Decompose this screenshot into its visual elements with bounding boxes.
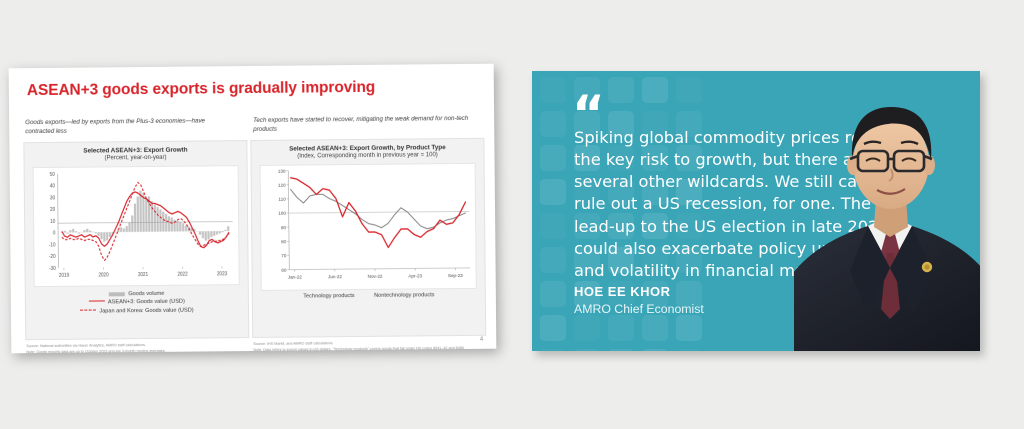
chart-left-legend: Goods volume ASEAN+3: Goods value (USD) … (26, 289, 248, 316)
left-panel-footnote: Source: National authorities via Haver A… (26, 342, 241, 353)
svg-text:30: 30 (50, 195, 55, 201)
legend-label-asean3: ASEAN+3: Goods value (USD) (108, 299, 185, 306)
svg-text:2023: 2023 (217, 271, 228, 277)
presentation-slide[interactable]: ASEAN+3 goods exports is gradually impro… (9, 64, 497, 354)
svg-text:10: 10 (50, 219, 55, 225)
svg-text:60: 60 (281, 267, 286, 273)
legend-label-technology: Technology products (303, 293, 354, 299)
svg-text:-20: -20 (49, 254, 56, 260)
chart-right-plot: 13012011010090807060 Jan-22Jun-22Nov-22A… (260, 163, 477, 291)
page-title: ASEAN+3 goods exports is gradually impro… (27, 79, 375, 100)
svg-text:20: 20 (50, 207, 55, 213)
svg-text:70: 70 (281, 253, 286, 259)
svg-text:2021: 2021 (138, 272, 149, 278)
svg-text:-30: -30 (49, 266, 56, 272)
svg-text:100: 100 (278, 211, 286, 217)
slide-page-number: 4 (480, 337, 483, 343)
chart-left-plot: 50403020100-10-20-30 2019202020212022202… (33, 165, 240, 287)
legend-swatch-solid-red (89, 301, 105, 302)
svg-text:Sep-23: Sep-23 (448, 273, 463, 279)
legend-item-japan-korea: Japan and Korea: Goods value (USD) (26, 306, 248, 317)
chart-left-header: Selected ASEAN+3: Export Growth (Percent… (24, 141, 246, 165)
legend-item-technology: Technology products (303, 292, 354, 301)
svg-text:80: 80 (281, 239, 286, 245)
svg-text:-10: -10 (49, 242, 56, 248)
svg-text:Apr-23: Apr-23 (408, 273, 422, 279)
slide-canvas: ASEAN+3 goods exports is gradually impro… (9, 64, 497, 354)
svg-text:2022: 2022 (177, 271, 188, 277)
avatar (794, 71, 980, 351)
quote-card[interactable]: “ Spiking global commodity prices remain… (532, 71, 980, 351)
svg-text:2019: 2019 (59, 273, 70, 279)
svg-text:130: 130 (278, 168, 286, 174)
svg-text:2020: 2020 (98, 272, 109, 278)
legend-item-nontechnology: Nontechnology products (374, 291, 434, 300)
svg-text:Nov-22: Nov-22 (368, 274, 383, 280)
legend-swatch-dashed-red (80, 309, 96, 310)
svg-text:90: 90 (281, 225, 286, 231)
chart-left-subtitle: (Percent, year-on-year) (28, 154, 242, 164)
chart-right-header: Selected ASEAN+3: Export Growth, by Prod… (251, 139, 483, 164)
svg-text:0: 0 (53, 230, 56, 236)
left-panel-caption: Goods exports—led by exports from the Pl… (25, 117, 230, 137)
svg-text:Jan-22: Jan-22 (288, 274, 302, 280)
svg-text:Jun-22: Jun-22 (328, 274, 342, 280)
chart-right-legend: Technology products Nontechnology produc… (253, 291, 485, 302)
right-panel-caption: Tech exports have started to recover, mi… (253, 115, 475, 135)
legend-label-japan-korea: Japan and Korea: Goods value (USD) (99, 307, 193, 314)
svg-text:40: 40 (50, 183, 55, 189)
legend-label-nontechnology: Nontechnology products (374, 292, 434, 299)
svg-text:50: 50 (50, 172, 55, 178)
right-panel-footnote: Source: IHS Markit, and AMRO staff calcu… (253, 340, 468, 353)
svg-text:120: 120 (278, 182, 286, 188)
legend-label-goods-volume: Goods volume (128, 291, 164, 297)
quote-author-name: HOE EE KHOR (574, 284, 671, 299)
svg-text:110: 110 (278, 197, 286, 203)
chart-export-by-product-type: Selected ASEAN+3: Export Growth, by Prod… (250, 138, 486, 338)
legend-swatch-bar (109, 292, 125, 296)
chart-export-growth: Selected ASEAN+3: Export Growth (Percent… (23, 140, 249, 340)
quote-author-role: AMRO Chief Economist (574, 302, 704, 316)
